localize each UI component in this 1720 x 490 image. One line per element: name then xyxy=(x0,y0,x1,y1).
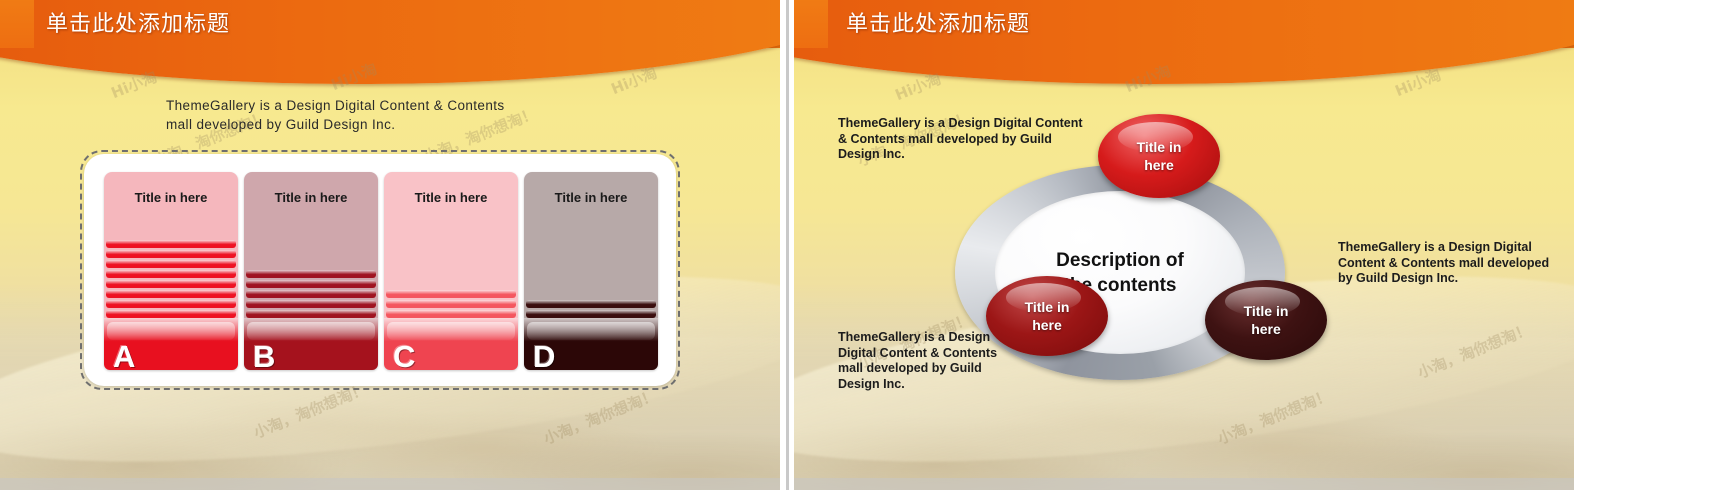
bar-stack xyxy=(524,300,658,318)
lead-line-2: mall developed by Guild Design Inc. xyxy=(166,115,596,134)
gloss-highlight xyxy=(107,322,236,340)
bar-segment xyxy=(246,290,376,298)
page-title: 单击此处添加标题 xyxy=(46,6,230,38)
bubble-right-line-2: here xyxy=(1251,321,1281,337)
bar-segment xyxy=(386,290,516,298)
bar-stack xyxy=(384,290,518,318)
bar-segment xyxy=(386,310,516,318)
bar-category-letter: C xyxy=(393,341,415,370)
bar-base-block: D xyxy=(524,318,658,370)
bar-segment xyxy=(246,300,376,308)
bar-column-b[interactable]: Title in hereB xyxy=(244,172,378,370)
bar-segment xyxy=(106,270,236,278)
bar-segment xyxy=(526,300,656,308)
bar-segment xyxy=(386,300,516,308)
bar-column-a[interactable]: Title in hereA xyxy=(104,172,238,370)
bar-column-title: Title in here xyxy=(524,172,658,224)
bubble-top-line-2: here xyxy=(1144,157,1174,173)
slide-divider xyxy=(780,0,794,490)
lead-paragraph: ThemeGallery is a Design Digital Content… xyxy=(166,96,596,134)
bar-chart[interactable]: Title in hereATitle in hereBTitle in her… xyxy=(104,172,658,370)
bubble-top[interactable]: Title in here xyxy=(1098,114,1220,198)
bubble-left-line-1: Title in xyxy=(1025,299,1070,315)
bar-segment xyxy=(106,260,236,268)
bar-segment xyxy=(106,240,236,248)
bar-column-title: Title in here xyxy=(244,172,378,224)
background-bottom-strip xyxy=(794,478,1574,490)
bar-column-title: Title in here xyxy=(384,172,518,224)
lead-line-1: ThemeGallery is a Design Digital Content… xyxy=(166,96,596,115)
page-title: 单击此处添加标题 xyxy=(846,6,1030,38)
bar-base-block: B xyxy=(244,318,378,370)
bubble-left-line-2: here xyxy=(1032,317,1062,333)
bar-segment xyxy=(246,280,376,288)
gloss-highlight xyxy=(247,322,376,340)
bar-category-letter: A xyxy=(113,341,135,370)
bubble-right-line-1: Title in xyxy=(1244,303,1289,319)
bar-category-letter: B xyxy=(253,341,275,370)
bar-segment xyxy=(106,300,236,308)
bar-column-c[interactable]: Title in hereC xyxy=(384,172,518,370)
bar-segment xyxy=(246,270,376,278)
bar-segment xyxy=(106,280,236,288)
background-bottom-strip xyxy=(0,478,780,490)
bar-segment xyxy=(106,250,236,258)
bubble-top-line-1: Title in xyxy=(1137,139,1182,155)
gloss-highlight xyxy=(527,322,656,340)
bar-base-block: C xyxy=(384,318,518,370)
slide-left[interactable]: 单击此处添加标题 Hi小淘 Hi小淘 Hi小淘 小淘，淘你想淘！ 小淘，淘你想淘… xyxy=(0,0,780,490)
bar-segment xyxy=(246,310,376,318)
bar-column-title: Title in here xyxy=(104,172,238,224)
header-left-accent xyxy=(0,0,34,48)
bubble-right[interactable]: Title in here xyxy=(1205,280,1327,360)
bar-segment xyxy=(106,290,236,298)
slide-deck: 单击此处添加标题 Hi小淘 Hi小淘 Hi小淘 小淘，淘你想淘！ 小淘，淘你想淘… xyxy=(0,0,1720,490)
bar-category-letter: D xyxy=(533,341,555,370)
bar-stack xyxy=(104,240,238,318)
slide-right[interactable]: 单击此处添加标题 Hi小淘 Hi小淘 Hi小淘 小淘，淘你想淘！ 小淘，淘你想淘… xyxy=(794,0,1574,490)
bubble-left[interactable]: Title in here xyxy=(986,276,1108,356)
bar-stack xyxy=(244,270,378,318)
bar-base-block: A xyxy=(104,318,238,370)
header-left-accent xyxy=(794,0,828,48)
gloss-highlight xyxy=(387,322,516,340)
bar-column-d[interactable]: Title in hereD xyxy=(524,172,658,370)
bar-segment xyxy=(526,310,656,318)
bar-segment xyxy=(106,310,236,318)
